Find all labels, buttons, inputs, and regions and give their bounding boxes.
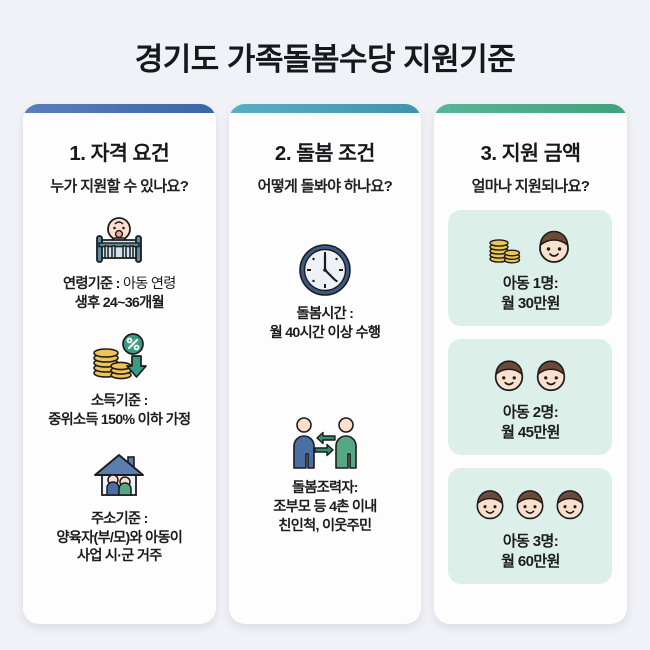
feature-label: 주소기준 : — [56, 510, 182, 529]
card-subtitle: 어떻게 돌봐야 하나요? — [258, 175, 393, 196]
feature-care-hours: 돌봄시간 : 월 40시간 이상 수행 — [238, 242, 413, 342]
amount-children-label: 아동 1명: — [503, 275, 558, 292]
card-subtitle: 얼마나 지원되나요? — [472, 175, 590, 196]
amount-value: 월 45만원 — [501, 423, 560, 443]
card-subtitle: 누가 지원할 수 있나요? — [50, 175, 188, 196]
amount-list: 아동 1명: 월 30만원 — [443, 196, 618, 624]
feature-label: 소득기준 : — [48, 392, 190, 411]
feature-income-criteria: 소득기준 : 중위소득 150% 이하 가정 — [32, 329, 207, 429]
amount-text: 아동 1명: 월 30만원 — [501, 274, 560, 315]
amount-children-label: 아동 2명: — [503, 404, 558, 421]
card-title: 2. 돌봄 조건 — [275, 136, 375, 166]
feature-label: 돌봄시간 : — [270, 305, 381, 324]
feature-care-helper: 돌봄조력자: 조부모 등 4촌 이내 친인척, 이웃주민 — [238, 416, 413, 535]
feature-line3: 사업 시·군 거주 — [56, 547, 182, 566]
three-children-icon — [471, 482, 589, 526]
card-support-amount: 3. 지원 금액 얼마나 지원되나요? — [434, 104, 627, 624]
feature-line2: 중위소득 150% 이하 가정 — [48, 411, 190, 430]
card-accent-bar — [23, 104, 216, 113]
card-accent-bar — [229, 104, 422, 113]
page-title: 경기도 가족돌봄수당 지원기준 — [0, 34, 650, 79]
coins-percent-down-icon — [88, 329, 150, 385]
feature-line2: 월 40시간 이상 수행 — [270, 324, 381, 343]
feature-text: 주소기준 : 양육자(부/모)와 아동이 사업 시·군 거주 — [56, 510, 182, 566]
feature-list: 연령기준 : 아동 연령 생후 24~36개월 — [32, 196, 207, 624]
card-qualification: 1. 자격 요건 누가 지원할 수 있나요? — [23, 104, 216, 624]
feature-list: 돌봄시간 : 월 40시간 이상 수행 — [238, 196, 413, 624]
amount-box-one-child: 아동 1명: 월 30만원 — [448, 210, 612, 326]
amount-text: 아동 2명: 월 45만원 — [501, 403, 560, 444]
wall-clock-icon — [297, 242, 353, 298]
amount-value: 월 30만원 — [501, 294, 560, 314]
feature-line2: 양육자(부/모)와 아동이 — [56, 529, 182, 548]
amount-box-two-children: 아동 2명: 월 45만원 — [448, 339, 612, 455]
coins-and-one-child-icon — [485, 224, 575, 268]
baby-crib-icon — [91, 212, 147, 268]
card-title: 1. 자격 요건 — [69, 136, 169, 166]
card-accent-bar — [434, 104, 627, 113]
feature-text: 돌봄시간 : 월 40시간 이상 수행 — [270, 305, 381, 342]
two-children-icon — [489, 353, 571, 397]
feature-line1: 아동 연령 — [123, 276, 176, 292]
two-people-exchange-icon — [289, 416, 361, 472]
feature-line3: 친인척, 이웃주민 — [273, 517, 376, 536]
cards-container: 1. 자격 요건 누가 지원할 수 있나요? — [23, 104, 627, 624]
amount-box-three-children: 아동 3명: 월 60만원 — [448, 468, 612, 584]
amount-children-label: 아동 3명: — [503, 533, 558, 550]
feature-text: 연령기준 : 아동 연령 생후 24~36개월 — [63, 275, 176, 312]
house-family-icon — [90, 447, 148, 503]
amount-value: 월 60만원 — [501, 552, 560, 572]
feature-label: 연령기준 : — [63, 276, 120, 292]
feature-address-criteria: 주소기준 : 양육자(부/모)와 아동이 사업 시·군 거주 — [32, 447, 207, 566]
feature-line2: 조부모 등 4촌 이내 — [273, 498, 376, 517]
feature-text: 돌봄조력자: 조부모 등 4촌 이내 친인척, 이웃주민 — [273, 479, 376, 535]
amount-text: 아동 3명: 월 60만원 — [501, 532, 560, 573]
card-care-conditions: 2. 돌봄 조건 어떻게 돌봐야 하나요? — [229, 104, 422, 624]
feature-age-criteria: 연령기준 : 아동 연령 생후 24~36개월 — [32, 212, 207, 312]
feature-label: 돌봄조력자: — [273, 479, 376, 498]
feature-line2: 생후 24~36개월 — [63, 294, 176, 313]
card-title: 3. 지원 금액 — [481, 136, 581, 166]
feature-text: 소득기준 : 중위소득 150% 이하 가정 — [48, 392, 190, 429]
